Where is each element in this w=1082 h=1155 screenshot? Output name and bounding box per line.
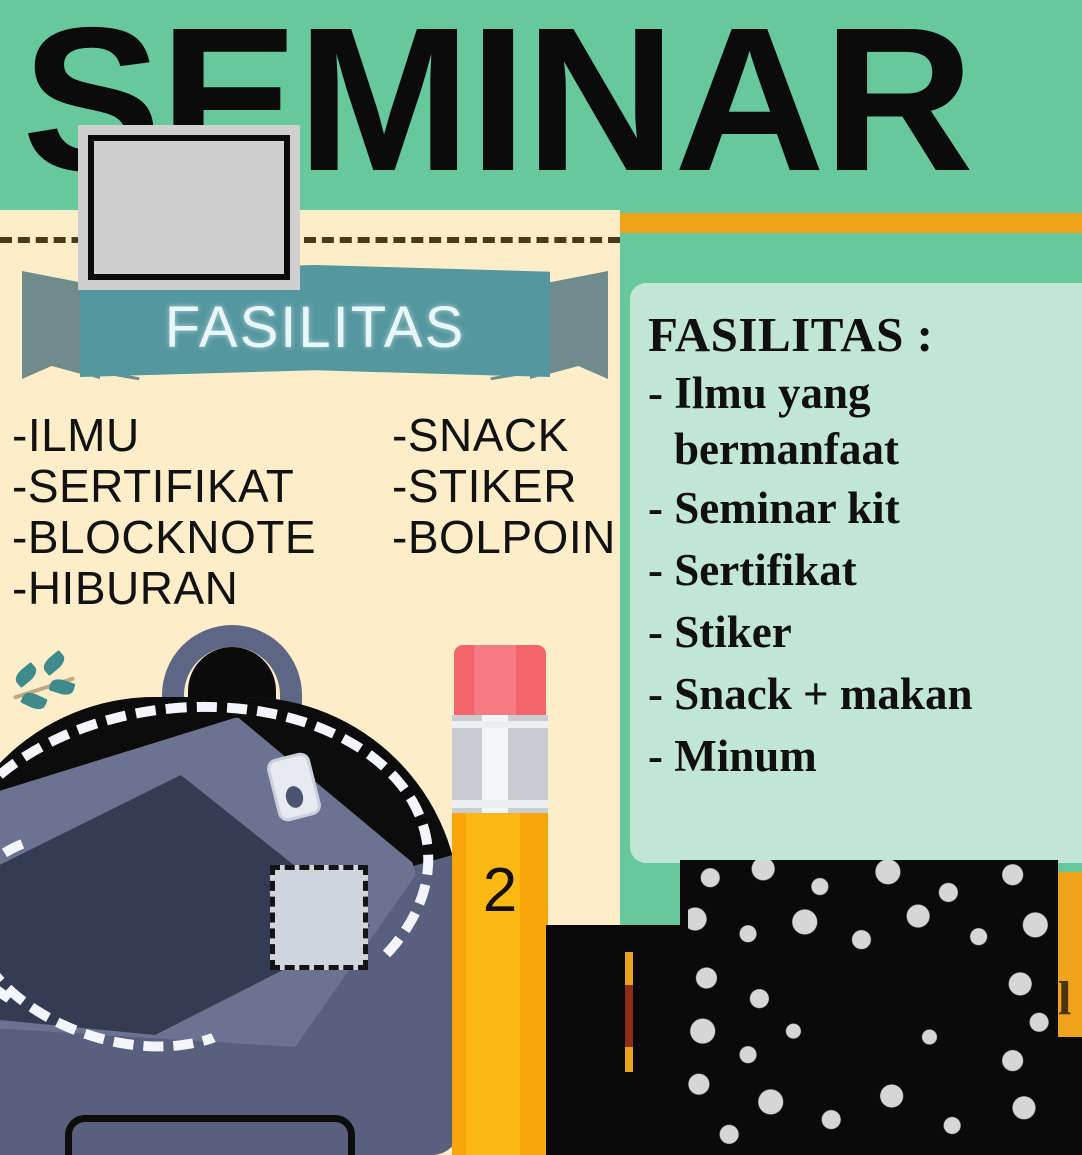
right-panel-title: FASILITAS : [648,305,1082,365]
orange-divider-bar [620,213,1082,233]
list-item: - Minum [648,725,1082,787]
list-item: -ILMU [12,410,392,461]
facilities-column-two: -SNACK -STIKER -BOLPOIN [392,410,620,614]
notebook-label-inner [88,135,290,280]
list-item: - Stiker [648,601,1082,663]
backpack-bottom-pocket [65,1115,355,1155]
list-item: -SERTIFIKAT [12,461,392,512]
list-item: - Sertifikat [648,539,1082,601]
list-item: -BLOCKNOTE [12,512,392,563]
list-item: -BOLPOIN [392,512,620,563]
pencil-illustration: 2 [452,645,548,1155]
backpack-illustration [0,625,460,1155]
right-edge-dark-strip [1058,1037,1082,1155]
pencil-eraser-highlight [474,645,516,717]
list-item: -STIKER [392,461,620,512]
list-item: - Seminar kit [648,477,1082,539]
pencil-ferrule-ridge-bottom [452,800,548,808]
list-item: -HIBURAN [12,563,392,614]
notebook-marble-cover [680,860,1058,1155]
pencil-ferrule-ridge-top [452,721,548,728]
list-item: - Ilmu yang bermanfaat [648,365,1082,477]
thin-pencil-band [625,985,633,1047]
right-edge-letter: l [1058,975,1082,1023]
notebook-spine [680,860,688,1155]
seminar-poster: SEMINAR FASILITAS -ILMU -SERTIFIKAT -BLO… [0,0,1082,1155]
facilities-columns: -ILMU -SERTIFIKAT -BLOCKNOTE -HIBURAN -S… [12,410,620,614]
list-item: -SNACK [392,410,620,461]
list-item-line: bermanfaat [674,424,899,474]
composition-notebook-illustration [680,860,1058,1155]
facilities-column-one: -ILMU -SERTIFIKAT -BLOCKNOTE -HIBURAN [12,410,392,614]
right-facilities-card: FASILITAS : - Ilmu yang bermanfaat - Sem… [630,283,1082,863]
backpack-front-pocket [270,865,368,970]
pencil-grade-number: 2 [452,860,548,922]
list-item: - Snack + makan [648,663,1082,725]
list-item-line: - Ilmu yang [648,368,871,418]
